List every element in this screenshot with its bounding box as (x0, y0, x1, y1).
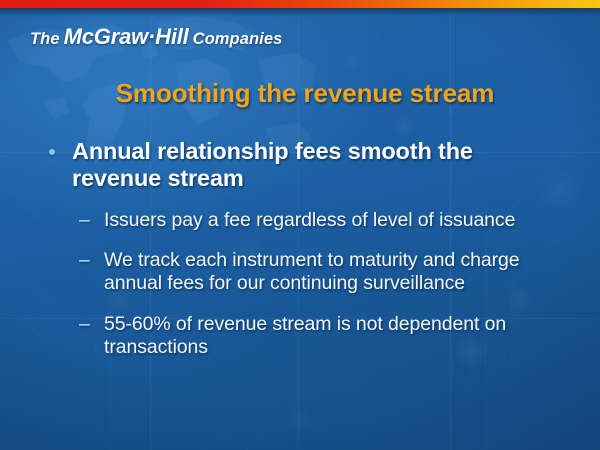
bullet-level2-text: Issuers pay a fee regardless of level of… (104, 209, 515, 231)
bullet-level2-text: 55-60% of revenue stream is not dependen… (104, 313, 506, 358)
sub-bullet-list: – Issuers pay a fee regardless of level … (0, 209, 600, 360)
slide-title: Smoothing the revenue stream (40, 78, 570, 109)
bullet-level2-text: We track each instrument to maturity and… (104, 249, 519, 294)
bullet-dot-icon (49, 149, 55, 155)
bullet-level2: – We track each instrument to maturity a… (78, 249, 546, 296)
bullet-level1: Annual relationship fees smooth the reve… (44, 138, 548, 193)
en-dash-icon: – (79, 313, 90, 336)
bullet-level1-text: Annual relationship fees smooth the reve… (72, 138, 473, 191)
bullet-level2: – Issuers pay a fee regardless of level … (78, 209, 546, 232)
mcgraw-hill-logo: TheMcGraw·HillCompanies (30, 24, 282, 50)
slide-body: Annual relationship fees smooth the reve… (0, 138, 600, 359)
logo-word-the: The (30, 30, 60, 48)
bullet-level2: – 55-60% of revenue stream is not depend… (78, 313, 546, 360)
top-gradient-bar (0, 0, 600, 8)
top-bar-shadow (0, 8, 600, 17)
en-dash-icon: – (79, 209, 90, 232)
logo-word-companies: Companies (193, 30, 283, 48)
logo-word-brand: McGraw·Hill (64, 24, 189, 49)
presentation-slide: TheMcGraw·HillCompanies Smoothing the re… (0, 0, 600, 450)
en-dash-icon: – (79, 249, 90, 272)
